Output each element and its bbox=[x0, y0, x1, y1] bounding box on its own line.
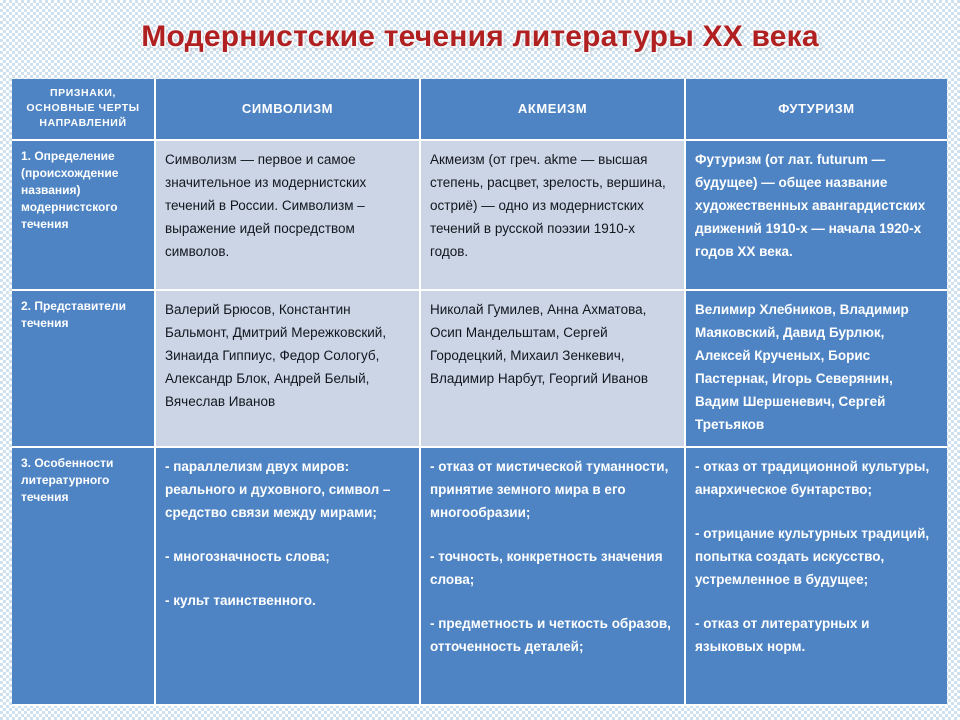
feature-item: - предметность и четкость образов, отточ… bbox=[430, 612, 675, 658]
row-label-definition: 1. Определение (происхождение названия) … bbox=[12, 141, 156, 291]
cell-definition-futurism: Футуризм (от лат. futurum — будущее) — о… bbox=[686, 141, 947, 291]
table-row: 2. Представители течения Валерий Брюсов,… bbox=[12, 291, 947, 448]
cell-definition-symbolism: Символизм — первое и самое значительное … bbox=[156, 141, 421, 291]
page-title: Модернистские течения литературы XX века bbox=[141, 20, 819, 54]
cell-representatives-symbolism: Валерий Брюсов, Константин Бальмонт, Дми… bbox=[156, 291, 421, 448]
row-label-features: 3. Особенности литературного течения bbox=[12, 448, 156, 706]
slide-canvas: Модернистские течения литературы XX века… bbox=[0, 0, 960, 720]
cell-representatives-futurism: Велимир Хлебников, Владимир Маяковский, … bbox=[686, 291, 947, 448]
feature-item: - отрицание культурных традиций, попытка… bbox=[695, 522, 938, 591]
header-futurism: ФУТУРИЗМ bbox=[686, 79, 947, 141]
cell-features-futurism: - отказ от традиционной культуры, анархи… bbox=[686, 448, 947, 706]
feature-item: - отказ от литературных и языковых норм. bbox=[695, 612, 938, 658]
feature-item: - точность, конкретность значения слова; bbox=[430, 545, 675, 591]
title-bar: Модернистские течения литературы XX века bbox=[0, 20, 960, 54]
table-row: 3. Особенности литературного течения - п… bbox=[12, 448, 947, 706]
feature-item: - многозначность слова; bbox=[165, 545, 410, 568]
header-criteria: ПРИЗНАКИ, ОСНОВНЫЕ ЧЕРТЫ НАПРАВЛЕНИЙ bbox=[12, 79, 156, 141]
header-acmeism: АКМЕИЗМ bbox=[421, 79, 686, 141]
cell-definition-acmeism: Акмеизм (от греч. akme — высшая степень,… bbox=[421, 141, 686, 291]
table-header-row: ПРИЗНАКИ, ОСНОВНЫЕ ЧЕРТЫ НАПРАВЛЕНИЙ СИМ… bbox=[12, 79, 947, 141]
comparison-table-wrapper: ПРИЗНАКИ, ОСНОВНЫЕ ЧЕРТЫ НАПРАВЛЕНИЙ СИМ… bbox=[12, 79, 947, 708]
feature-item: - отказ от мистической туманности, приня… bbox=[430, 455, 675, 524]
header-symbolism: СИМВОЛИЗМ bbox=[156, 79, 421, 141]
feature-item: - отказ от традиционной культуры, анархи… bbox=[695, 455, 938, 501]
cell-features-symbolism: - параллелизм двух миров: реального и ду… bbox=[156, 448, 421, 706]
cell-representatives-acmeism: Николай Гумилев, Анна Ахматова, Осип Ман… bbox=[421, 291, 686, 448]
row-label-representatives: 2. Представители течения bbox=[12, 291, 156, 448]
comparison-table: ПРИЗНАКИ, ОСНОВНЫЕ ЧЕРТЫ НАПРАВЛЕНИЙ СИМ… bbox=[12, 79, 947, 706]
feature-item: - культ таинственного. bbox=[165, 589, 410, 612]
table-row: 1. Определение (происхождение названия) … bbox=[12, 141, 947, 291]
feature-item: - параллелизм двух миров: реального и ду… bbox=[165, 455, 410, 524]
cell-features-acmeism: - отказ от мистической туманности, приня… bbox=[421, 448, 686, 706]
